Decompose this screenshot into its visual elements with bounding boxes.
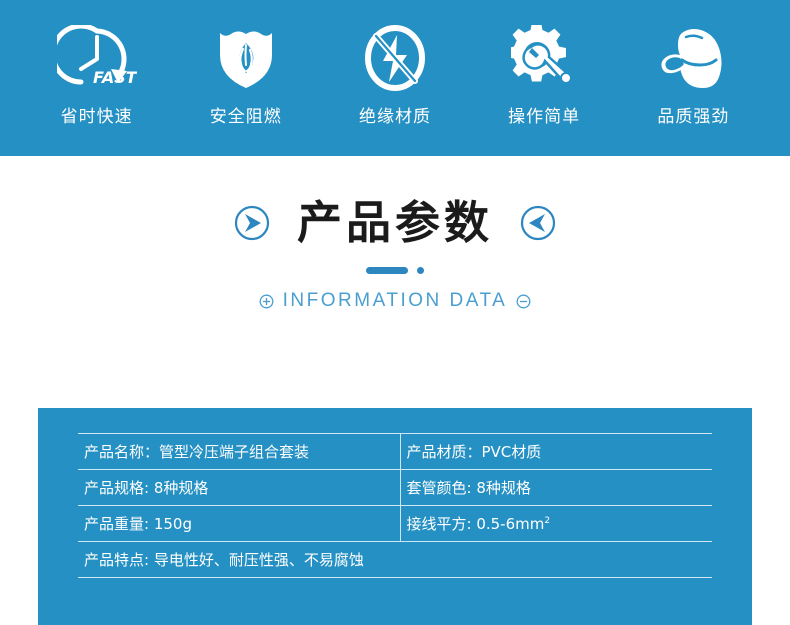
title-row: 产品参数 [233, 200, 557, 245]
divider-dash [366, 267, 408, 274]
feature-item-strong-quality: 品质强劲 [623, 22, 763, 127]
spec-cell-product-weight: 产品重量: 150g [78, 506, 400, 542]
feature-item-insulation: 绝缘材质 [325, 22, 465, 127]
clock-fast-icon: FAST [52, 22, 142, 94]
feature-label: 品质强劲 [657, 102, 729, 127]
spec-cell-wire-gauge: 接线平方: 0.5-6mm2 [400, 506, 712, 542]
circled-minus-icon [516, 294, 531, 309]
spec-cell-sleeve-color: 套管颜色: 8种规格 [400, 470, 712, 506]
feature-label: 安全阻燃 [210, 102, 282, 127]
feature-item-fast: FAST 省时快速 [27, 22, 167, 127]
spec-table: 产品名称：管型冷压端子组合套装 产品材质：PVC材质 产品规格: 8种规格 套管… [78, 433, 712, 578]
spec-panel: 产品名称：管型冷压端子组合套装 产品材质：PVC材质 产品规格: 8种规格 套管… [38, 408, 752, 625]
page-subtitle: INFORMATION DATA [283, 290, 508, 312]
divider-dot [417, 267, 424, 274]
feature-label: 省时快速 [61, 102, 133, 127]
feature-item-flame-retardant: 安全阻燃 [176, 22, 316, 127]
spec-cell-product-features: 产品特点: 导电性好、耐压性强、不易腐蚀 [78, 542, 712, 578]
feature-label: 操作简单 [508, 102, 580, 127]
subtitle-row: INFORMATION DATA [259, 290, 532, 312]
no-electricity-icon [350, 22, 440, 94]
section-title-block: 产品参数 INFORMATION DATA [0, 200, 790, 312]
feature-item-easy-operation: 操作简单 [474, 22, 614, 127]
table-row: 产品重量: 150g 接线平方: 0.5-6mm2 [78, 506, 712, 542]
table-row: 产品名称：管型冷压端子组合套装 产品材质：PVC材质 [78, 434, 712, 470]
table-row: 产品规格: 8种规格 套管颜色: 8种规格 [78, 470, 712, 506]
feature-banner: FAST 省时快速 安全阻燃 [0, 0, 790, 156]
feature-label: 绝缘材质 [359, 102, 431, 127]
circled-arrow-right-icon [233, 204, 271, 242]
gear-wrench-icon [499, 22, 589, 94]
spec-cell-product-material: 产品材质：PVC材质 [400, 434, 712, 470]
page-title: 产品参数 [297, 200, 493, 245]
spec-cell-wire-gauge-sup: 2 [544, 516, 550, 526]
table-row: 产品特点: 导电性好、耐压性强、不易腐蚀 [78, 542, 712, 578]
svg-text:FAST: FAST [93, 68, 137, 87]
flexed-bicep-icon [648, 22, 738, 94]
circled-plus-icon [259, 294, 274, 309]
spec-cell-wire-gauge-text: 接线平方: 0.5-6mm [407, 515, 545, 533]
circled-arrow-left-icon [519, 204, 557, 242]
spec-cell-product-name: 产品名称：管型冷压端子组合套装 [78, 434, 400, 470]
product-detail-page: FAST 省时快速 安全阻燃 [0, 0, 790, 625]
shield-flame-icon [201, 22, 291, 94]
spec-cell-product-spec: 产品规格: 8种规格 [78, 470, 400, 506]
title-divider-decoration [366, 267, 424, 274]
